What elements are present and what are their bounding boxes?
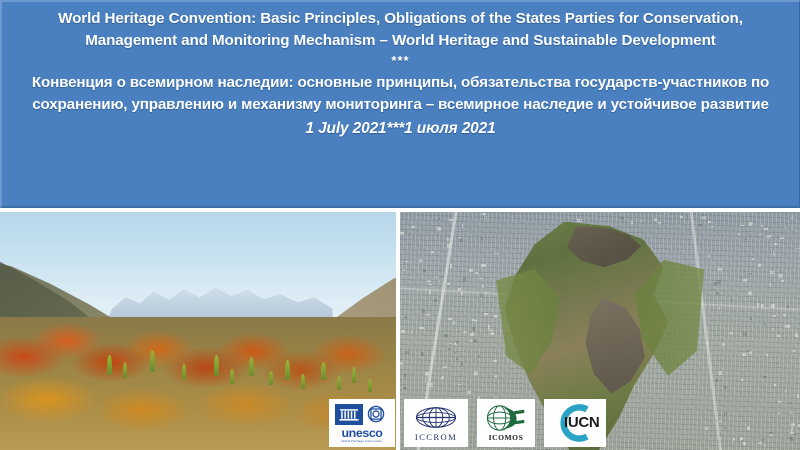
iccrom-logo: ICCROM — [404, 399, 468, 447]
poplar-tree — [321, 362, 326, 380]
icomos-wordmark: ICOMOS — [489, 434, 524, 442]
unesco-wordmark: unesco — [342, 427, 383, 439]
title-banner: World Heritage Convention: Basic Princip… — [0, 0, 800, 208]
world-heritage-emblem-icon — [362, 404, 389, 425]
date-line: 1 July 2021***1 июля 2021 — [305, 120, 495, 138]
poplar-tree — [269, 371, 273, 385]
poplar-tree — [230, 369, 234, 384]
iccrom-wordmark: ICCROM — [415, 433, 457, 442]
iccrom-globe-icon — [414, 405, 458, 430]
iucn-mark: IUCN — [547, 404, 603, 442]
title-separator: *** — [391, 54, 409, 67]
poplar-tree — [123, 362, 127, 379]
unesco-subtitle: World Heritage Convention — [342, 440, 383, 443]
iucn-wordmark: IUCN — [564, 415, 599, 430]
presentation-slide: World Heritage Convention: Basic Princip… — [0, 0, 800, 450]
poplar-tree — [107, 355, 112, 375]
unesco-emblems — [335, 404, 389, 425]
poplar-tree — [337, 376, 341, 390]
title-english: World Heritage Convention: Basic Princip… — [30, 8, 772, 51]
poplar-tree — [285, 360, 290, 380]
partner-logo-strip: unesco World Heritage Convention ICCROM — [329, 399, 606, 447]
poplar-tree — [301, 374, 305, 389]
icomos-globe-column-icon — [485, 404, 527, 432]
title-russian: Конвенция о всемирном наследии: основные… — [28, 72, 773, 116]
unesco-temple-icon — [335, 404, 362, 425]
unesco-logo: unesco World Heritage Convention — [329, 399, 395, 447]
poplar-tree — [182, 364, 186, 380]
icomos-logo: ICOMOS — [477, 399, 535, 447]
iucn-logo: IUCN — [544, 399, 606, 447]
poplar-tree — [214, 355, 219, 376]
